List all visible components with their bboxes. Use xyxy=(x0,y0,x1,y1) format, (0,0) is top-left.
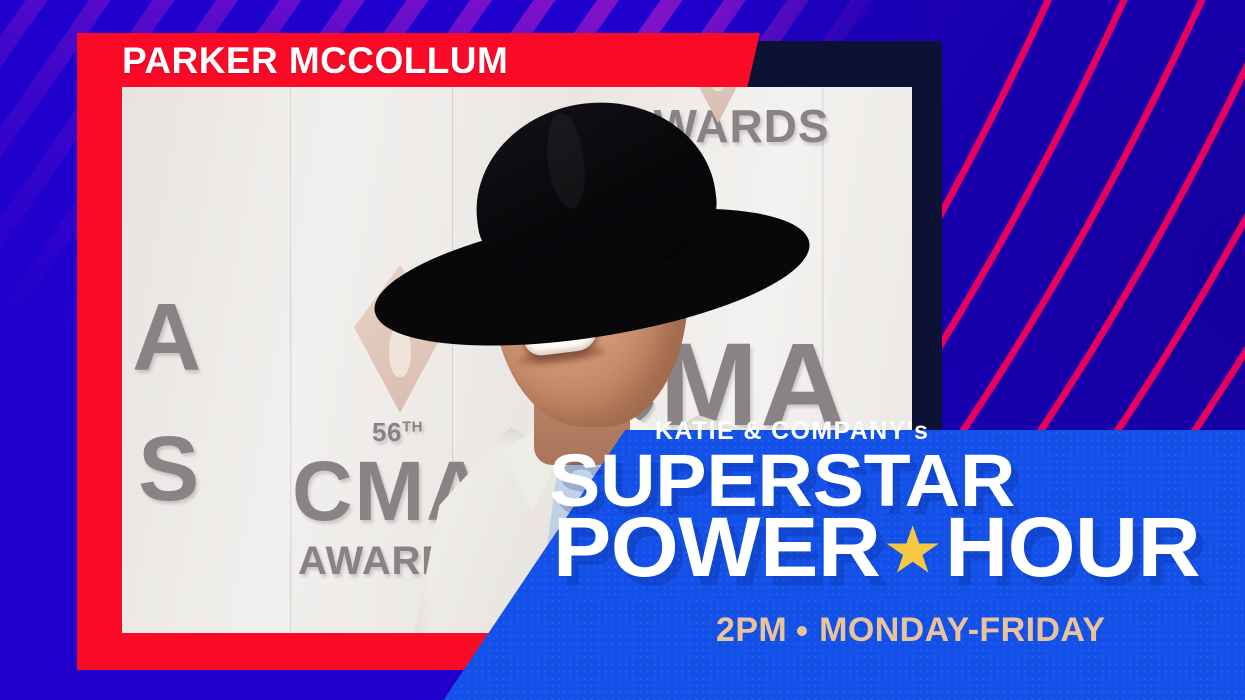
artist-name-banner: PARKER MCCOLLUM xyxy=(77,33,760,87)
promo-graphic: A S 56TH CMA AWARDS CMA AWARDS xyxy=(0,0,1245,700)
artist-name: PARKER MCCOLLUM xyxy=(122,42,508,79)
title-blue-slab-bottom xyxy=(560,598,1245,700)
backdrop-logo-letter-a: A xyxy=(132,283,203,393)
backdrop-logo-letter-s: S xyxy=(138,417,201,522)
